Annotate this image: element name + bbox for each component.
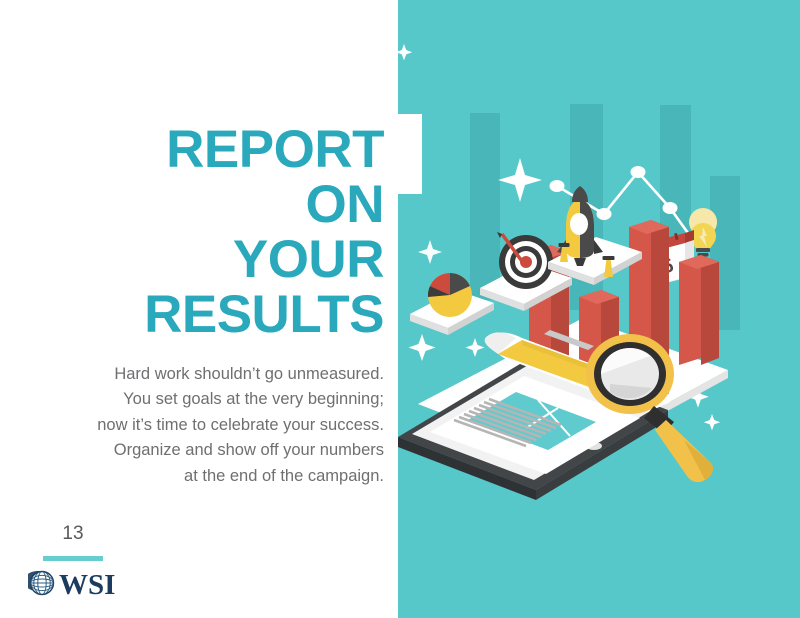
slide-canvas: REPORT ON YOUR RESULTS Hard work shouldn… <box>0 0 800 618</box>
body-paragraph: Hard work shouldn’t go unmeasured. You s… <box>96 362 384 490</box>
page-number-rule <box>43 556 103 561</box>
wsi-logo: WSI <box>28 568 115 603</box>
page-title: REPORT ON YOUR RESULTS <box>20 122 384 342</box>
wsi-logo-text: WSI <box>59 571 115 600</box>
page-title-line-2: ON <box>20 177 384 232</box>
page-title-line-3: YOUR <box>20 232 384 287</box>
page-number: 13 <box>43 523 103 545</box>
page-title-line-4: RESULTS <box>20 287 384 342</box>
illustration-isometric-report: 25 <box>398 0 800 618</box>
globe-icon <box>28 568 58 603</box>
page-title-line-1: REPORT <box>20 122 384 177</box>
